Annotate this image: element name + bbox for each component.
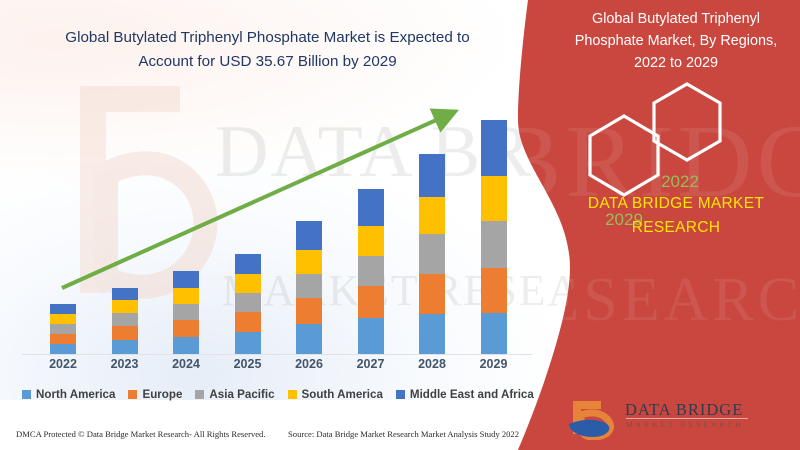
- x-axis-labels: 20222023202420252026202720282029: [0, 357, 545, 377]
- bar-segment: [358, 189, 384, 226]
- stacked-bar-chart: [0, 95, 545, 355]
- bar-segment: [50, 344, 76, 354]
- svg-text:BRIDGE: BRIDGE: [510, 104, 800, 219]
- legend-label: Europe: [142, 388, 182, 401]
- hexagon-label-back: 2029: [594, 210, 654, 230]
- x-axis-label-2024: 2024: [156, 357, 216, 371]
- bar-segment: [419, 154, 445, 197]
- hexagon-shapes-icon: [548, 82, 798, 197]
- footer-source-note: Source: Data Bridge Market Research Mark…: [288, 429, 519, 439]
- bar-2028: [419, 154, 445, 354]
- legend-swatch-icon: [22, 390, 31, 399]
- bar-segment: [173, 320, 199, 337]
- logo-tagline: MARKET RESEARCH: [626, 420, 744, 429]
- bar-segment: [173, 337, 199, 354]
- footer-dmca-notice: DMCA Protected © Data Bridge Market Rese…: [16, 429, 266, 439]
- bar-2022: [50, 304, 76, 354]
- bar-segment: [481, 268, 507, 313]
- legend-item[interactable]: Europe: [128, 388, 182, 401]
- bar-segment: [419, 197, 445, 234]
- bar-segment: [112, 288, 138, 300]
- bar-2027: [358, 189, 384, 354]
- bar-segment: [235, 274, 261, 293]
- bar-segment: [419, 234, 445, 274]
- legend-swatch-icon: [195, 390, 204, 399]
- panel-brand-text: DATA BRIDGE MARKET RESEARCH: [556, 192, 796, 240]
- bar-segment: [50, 304, 76, 314]
- legend-item[interactable]: North America: [22, 388, 115, 401]
- bar-2026: [296, 221, 322, 354]
- bar-segment: [481, 313, 507, 354]
- slide-root: DATA BRIDGE MARKET RESEARCH Global Butyl…: [0, 0, 800, 450]
- bar-2024: [173, 271, 199, 354]
- bar-segment: [358, 256, 384, 286]
- svg-text:RESEARCH: RESEARCH: [510, 266, 800, 334]
- bar-segment: [481, 120, 507, 176]
- bar-segment: [419, 274, 445, 314]
- legend-item[interactable]: Asia Pacific: [195, 388, 274, 401]
- bar-segment: [358, 318, 384, 354]
- bar-2023: [112, 288, 138, 354]
- legend-label: North America: [36, 388, 115, 401]
- bar-segment: [296, 221, 322, 250]
- x-axis-label-2022: 2022: [33, 357, 93, 371]
- bar-segment: [358, 286, 384, 318]
- legend-swatch-icon: [396, 390, 405, 399]
- bar-segment: [112, 300, 138, 313]
- page-title: Global Butylated Triphenyl Phosphate Mar…: [40, 26, 495, 74]
- legend-swatch-icon: [128, 390, 137, 399]
- bar-2025: [235, 254, 261, 354]
- bar-segment: [481, 176, 507, 221]
- bar-2029: [481, 120, 507, 354]
- bar-segment: [173, 304, 199, 320]
- bar-segment: [50, 324, 76, 334]
- hexagon-label-front: 2022: [650, 172, 710, 192]
- logo-wordmark: DATA BRIDGE: [625, 400, 743, 420]
- panel-title: Global Butylated Triphenyl Phosphate Mar…: [560, 8, 792, 74]
- chart-legend: North AmericaEuropeAsia PacificSouth Ame…: [22, 385, 542, 403]
- bar-segment: [50, 314, 76, 324]
- bar-segment: [481, 221, 507, 268]
- data-bridge-logo: DATA BRIDGE MARKET RESEARCH: [565, 398, 755, 440]
- x-axis-line: [22, 354, 532, 355]
- hexagon-group: 2029 2022: [548, 82, 798, 197]
- bar-segment: [235, 254, 261, 274]
- bar-segment: [419, 314, 445, 354]
- panel-shape: BRIDGE RESEARCH: [510, 0, 800, 450]
- bar-segment: [235, 293, 261, 312]
- x-axis-label-2026: 2026: [279, 357, 339, 371]
- legend-item[interactable]: South America: [288, 388, 383, 401]
- legend-label: Asia Pacific: [209, 388, 274, 401]
- bar-segment: [358, 226, 384, 256]
- legend-label: Middle East and Africa: [410, 388, 534, 401]
- bar-segment: [50, 334, 76, 344]
- bar-segment: [296, 324, 322, 354]
- bar-segment: [112, 326, 138, 340]
- bar-segment: [173, 271, 199, 288]
- x-axis-label-2029: 2029: [464, 357, 524, 371]
- bar-segment: [112, 313, 138, 326]
- legend-label: South America: [302, 388, 383, 401]
- bar-segment: [235, 312, 261, 332]
- logo-divider: [626, 418, 748, 419]
- bar-segment: [296, 298, 322, 324]
- bar-segment: [112, 340, 138, 354]
- bar-segment: [296, 274, 322, 298]
- legend-item[interactable]: Middle East and Africa: [396, 388, 534, 401]
- trend-arrow-icon: [0, 95, 545, 355]
- logo-mark-icon: [565, 398, 625, 440]
- bar-segment: [235, 332, 261, 354]
- bar-segment: [173, 288, 199, 304]
- x-axis-label-2027: 2027: [341, 357, 401, 371]
- x-axis-label-2023: 2023: [95, 357, 155, 371]
- right-red-panel: BRIDGE RESEARCH Global Butylated Triphen…: [510, 0, 800, 450]
- bar-segment: [296, 250, 322, 274]
- x-axis-label-2028: 2028: [402, 357, 462, 371]
- legend-swatch-icon: [288, 390, 297, 399]
- x-axis-label-2025: 2025: [218, 357, 278, 371]
